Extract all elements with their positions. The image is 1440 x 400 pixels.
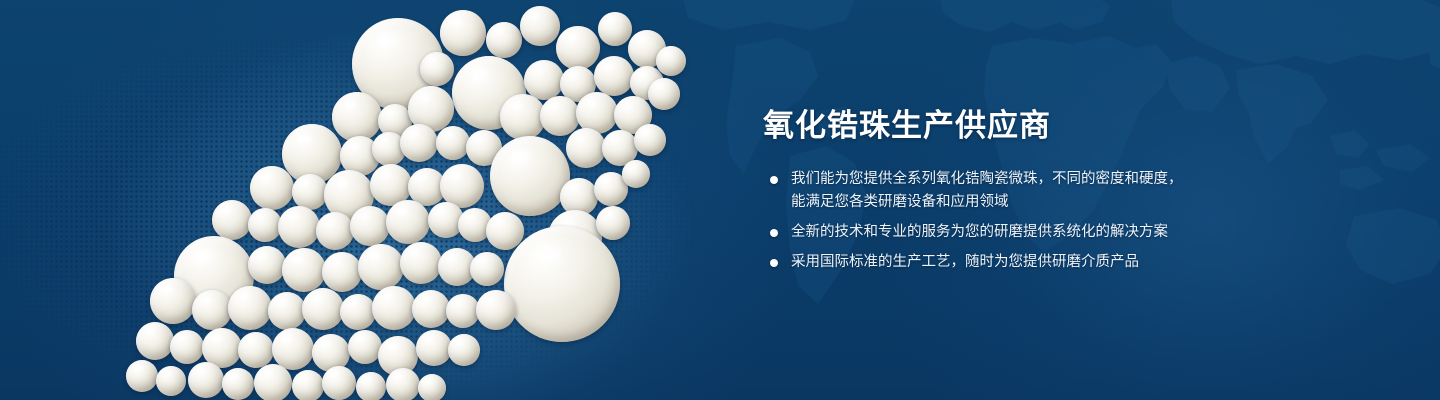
bullet-dot-icon [770,176,778,184]
list-item: 全新的技术和专业的服务为您的研磨提供系统化的解决方案 [763,221,1233,244]
feature-list: 我们能为您提供全系列氧化锆陶瓷微珠，不同的密度和硬度， 能满足您各类研磨设备和应… [763,168,1233,274]
hero-banner: 氧化锆珠生产供应商 我们能为您提供全系列氧化锆陶瓷微珠，不同的密度和硬度， 能满… [0,0,1440,400]
list-item-line-1: 全新的技术和专业的服务为您的研磨提供系统化的解决方案 [791,224,1168,240]
list-item-line-2: 能满足您各类研磨设备和应用领域 [791,191,1233,214]
list-item: 我们能为您提供全系列氧化锆陶瓷微珠，不同的密度和硬度， 能满足您各类研磨设备和应… [763,168,1233,214]
bullet-dot-icon [770,259,778,267]
list-item: 采用国际标准的生产工艺，随时为您提供研磨介质产品 [763,251,1233,274]
banner-content: 氧化锆珠生产供应商 我们能为您提供全系列氧化锆陶瓷微珠，不同的密度和硬度， 能满… [763,106,1233,274]
page-title: 氧化锆珠生产供应商 [763,106,1233,146]
list-item-line-1: 采用国际标准的生产工艺，随时为您提供研磨介质产品 [791,254,1139,270]
bullet-dot-icon [770,229,778,237]
list-item-line-1: 我们能为您提供全系列氧化锆陶瓷微珠，不同的密度和硬度， [791,171,1183,187]
